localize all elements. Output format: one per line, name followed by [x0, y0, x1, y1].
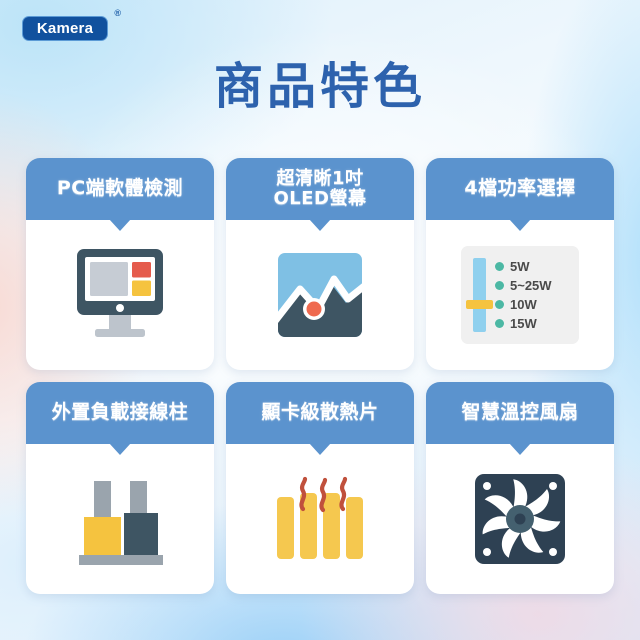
bullet-dot-icon	[495, 262, 504, 271]
card-title: 超清晰1吋 OLED螢幕	[273, 169, 366, 209]
card-header-notch-icon	[509, 443, 531, 455]
feature-card-smart-fan: 智慧溫控風扇	[426, 382, 614, 594]
card-body	[26, 220, 214, 370]
card-title-line-1: 超清晰1吋	[276, 168, 363, 189]
power-option-item[interactable]: 15W	[495, 316, 552, 331]
binding-posts-icon	[66, 469, 174, 569]
heatsink-icon	[267, 469, 373, 569]
monitor-icon	[67, 245, 173, 345]
card-header: 4檔功率選擇	[426, 158, 614, 220]
card-body: 5W 5~25W 10W 15W	[426, 220, 614, 370]
brand-logo: Kamera ®	[22, 16, 108, 41]
slider-track-wrap	[473, 258, 486, 332]
card-title: 4檔功率選擇	[464, 178, 575, 199]
power-option-item[interactable]: 5W	[495, 259, 552, 274]
card-title: 外置負載接線柱	[52, 402, 189, 423]
feature-card-external-load-terminals: 外置負載接線柱	[26, 382, 214, 594]
card-header: 智慧溫控風扇	[426, 382, 614, 444]
bullet-dot-icon	[495, 300, 504, 309]
power-option-item[interactable]: 5~25W	[495, 278, 552, 293]
page-title: 商品特色	[0, 62, 640, 111]
power-option-label: 15W	[510, 317, 537, 330]
card-header: 超清晰1吋 OLED螢幕	[226, 158, 414, 220]
card-title-line-2: OLED螢幕	[273, 188, 366, 209]
slider-handle[interactable]	[466, 300, 493, 309]
card-header-notch-icon	[309, 219, 331, 231]
slider-icon: 5W 5~25W 10W 15W	[461, 246, 579, 344]
feature-card-oled-screen: 超清晰1吋 OLED螢幕	[226, 158, 414, 370]
power-option-label: 5~25W	[510, 279, 552, 292]
card-header-notch-icon	[109, 443, 131, 455]
card-header-notch-icon	[309, 443, 331, 455]
power-option-label: 5W	[510, 260, 530, 273]
card-header: 顯卡級散熱片	[226, 382, 414, 444]
power-option-list: 5W 5~25W 10W 15W	[495, 259, 552, 331]
image-landscape-icon	[270, 245, 370, 345]
bullet-dot-icon	[495, 319, 504, 328]
card-header: 外置負載接線柱	[26, 382, 214, 444]
slider-track	[473, 258, 486, 332]
card-header: PC端軟體檢測	[26, 158, 214, 220]
registered-trademark-icon: ®	[114, 9, 121, 18]
card-body	[426, 444, 614, 594]
feature-card-grid: PC端軟體檢測 超清晰1吋 OLED螢幕	[26, 158, 614, 594]
card-header-notch-icon	[509, 219, 531, 231]
card-body	[226, 220, 414, 370]
feature-card-pc-software-detection: PC端軟體檢測	[26, 158, 214, 370]
feature-card-power-levels: 4檔功率選擇 5W 5~25W	[426, 158, 614, 370]
card-header-notch-icon	[109, 219, 131, 231]
card-title: 顯卡級散熱片	[261, 402, 378, 423]
card-title: PC端軟體檢測	[57, 178, 183, 199]
card-body	[26, 444, 214, 594]
power-option-item[interactable]: 10W	[495, 297, 552, 312]
bullet-dot-icon	[495, 281, 504, 290]
power-option-label: 10W	[510, 298, 537, 311]
logo-text: Kamera	[37, 21, 93, 36]
card-body	[226, 444, 414, 594]
logo-badge: Kamera	[22, 16, 108, 41]
fan-icon	[468, 467, 572, 571]
feature-card-gpu-heatsink: 顯卡級散熱片	[226, 382, 414, 594]
card-title: 智慧溫控風扇	[461, 402, 578, 423]
